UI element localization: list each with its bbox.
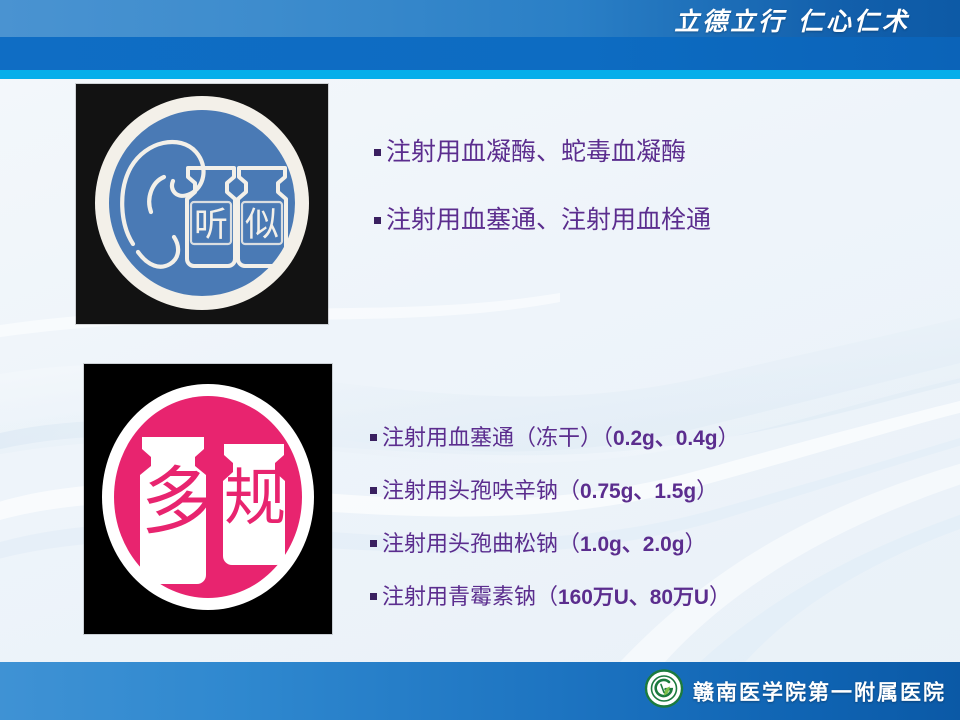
- ear-and-vials-icon: 听 似: [76, 84, 328, 324]
- square-bullet-icon: [370, 434, 377, 441]
- listen-alike-image: 听 似: [76, 84, 328, 324]
- footer-brand: 赣南医学院第一附属医院: [644, 669, 946, 714]
- slide-canvas: 立德立行 仁心仁术 听 似: [0, 0, 960, 720]
- header-motto: 立德立行 仁心仁术: [674, 2, 910, 38]
- multi-spec-image: 多 规: [84, 364, 332, 634]
- square-bullet-icon: [370, 487, 377, 494]
- bullet-item: 注射用血塞通、注射用血栓通: [374, 200, 934, 236]
- bullet-label: 注射用血塞通、注射用血栓通: [386, 200, 711, 236]
- vial-char-1: 听: [194, 205, 228, 245]
- square-bullet-icon: [374, 149, 381, 156]
- bullet-label: 注射用血凝酶、蛇毒血凝酶: [386, 132, 686, 168]
- bullet-item: 注射用血塞通（冻干）（0.2g、0.4g）: [370, 420, 950, 452]
- top-bullet-list: 注射用血凝酶、蛇毒血凝酶 注射用血塞通、注射用血栓通: [374, 132, 934, 268]
- bullet-item: 注射用青霉素钠（160万U、80万U）: [370, 579, 950, 611]
- bullet-item: 注射用血凝酶、蛇毒血凝酶: [374, 132, 934, 168]
- bottom-bullet-list: 注射用血塞通（冻干）（0.2g、0.4g） 注射用头孢呋辛钠（0.75g、1.5…: [370, 420, 950, 632]
- bullet-item: 注射用头孢曲松钠（1.0g、2.0g）: [370, 526, 950, 558]
- bullet-item: 注射用头孢呋辛钠（0.75g、1.5g）: [370, 473, 950, 505]
- header-solid-band: [0, 37, 960, 70]
- square-bullet-icon: [374, 217, 381, 224]
- square-bullet-icon: [370, 540, 377, 547]
- bullet-label: 注射用青霉素钠（160万U、80万U）: [382, 579, 731, 611]
- footer-bar: 赣南医学院第一附属医院: [0, 662, 960, 720]
- hospital-name: 赣南医学院第一附属医院: [693, 676, 946, 706]
- bullet-label: 注射用血塞通（冻干）（0.2g、0.4g）: [382, 420, 740, 452]
- vial-char-2: 似: [245, 205, 279, 245]
- two-vials-icon: 多 规: [84, 364, 332, 634]
- vial-char-2: 规: [224, 461, 286, 534]
- bullet-label: 注射用头孢曲松钠（1.0g、2.0g）: [382, 526, 707, 558]
- header-accent-strip: [0, 70, 960, 79]
- vial-char-1: 多: [141, 459, 215, 545]
- square-bullet-icon: [370, 593, 377, 600]
- hospital-seal-logo: [644, 669, 684, 714]
- bullet-label: 注射用头孢呋辛钠（0.75g、1.5g）: [382, 473, 718, 505]
